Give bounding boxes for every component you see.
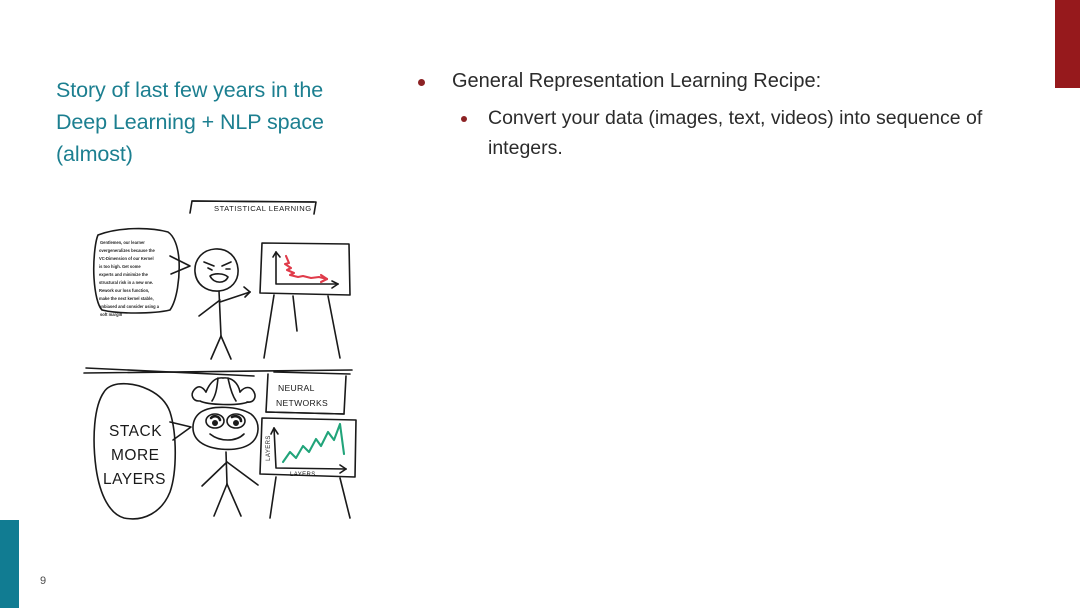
page-title-line-3: (almost) (56, 138, 386, 170)
svg-text:NETWORKS: NETWORKS (276, 398, 328, 408)
svg-text:structural risk in a new one.: structural risk in a new one. (99, 280, 153, 285)
svg-text:LAYERS: LAYERS (103, 471, 166, 488)
page-title: Story of last few years in the Deep Lear… (56, 74, 386, 170)
bullet-text-level2: Convert your data (images, text, videos)… (488, 103, 1018, 163)
svg-text:STACK: STACK (109, 423, 162, 440)
top-right-red-accent-bar (1055, 0, 1080, 88)
bullet-dot-icon (461, 116, 467, 122)
statistical-learning-sign-text: STATISTICAL LEARNING (214, 204, 312, 213)
neural-networks-chart-ylabel: LAYERS (266, 435, 272, 461)
neural-networks-chart-xlabel: LAYERS (290, 472, 316, 478)
svg-text:NEURAL: NEURAL (278, 383, 315, 393)
svg-text:Rework our loss function,: Rework our loss function, (99, 288, 149, 293)
svg-text:STATISTICAL LEARNING: STATISTICAL LEARNING (214, 204, 312, 213)
bullet-text-level1: General Representation Learning Recipe: (452, 66, 821, 96)
page-title-line-1: Story of last few years in the (56, 74, 386, 106)
bullet-item-level2: Convert your data (images, text, videos)… (461, 103, 1018, 163)
slide-canvas: Story of last few years in the Deep Lear… (0, 0, 1080, 608)
meme-svg: Gentlemen, our learner overgeneralizes b… (78, 196, 358, 526)
svg-text:make the next kernel stable,: make the next kernel stable, (99, 296, 154, 301)
body-content: General Representation Learning Recipe: … (418, 66, 1018, 163)
bottom-left-teal-accent-bar (0, 520, 19, 608)
svg-text:experts and minimize the: experts and minimize the (99, 272, 149, 277)
slide-number: 9 (40, 575, 46, 587)
svg-text:MORE: MORE (111, 447, 160, 464)
stack-more-layers-text: STACK MORE LAYERS (103, 423, 166, 488)
svg-text:overgeneralizes because the: overgeneralizes because the (99, 248, 155, 253)
svg-text:Gentlemen, our learner: Gentlemen, our learner (100, 240, 145, 245)
bullet-item-level1: General Representation Learning Recipe: (418, 66, 1018, 96)
svg-text:soft margin: soft margin (100, 312, 123, 317)
page-title-line-2: Deep Learning + NLP space (56, 106, 386, 138)
svg-text:unbiased and consider using a: unbiased and consider using a (99, 304, 160, 309)
svg-text:is too high. Get some: is too high. Get some (99, 264, 141, 269)
meme-image: Gentlemen, our learner overgeneralizes b… (78, 196, 358, 526)
bullet-dot-icon (418, 79, 425, 86)
svg-text:VC-Dimension of our Kernel: VC-Dimension of our Kernel (99, 256, 154, 261)
